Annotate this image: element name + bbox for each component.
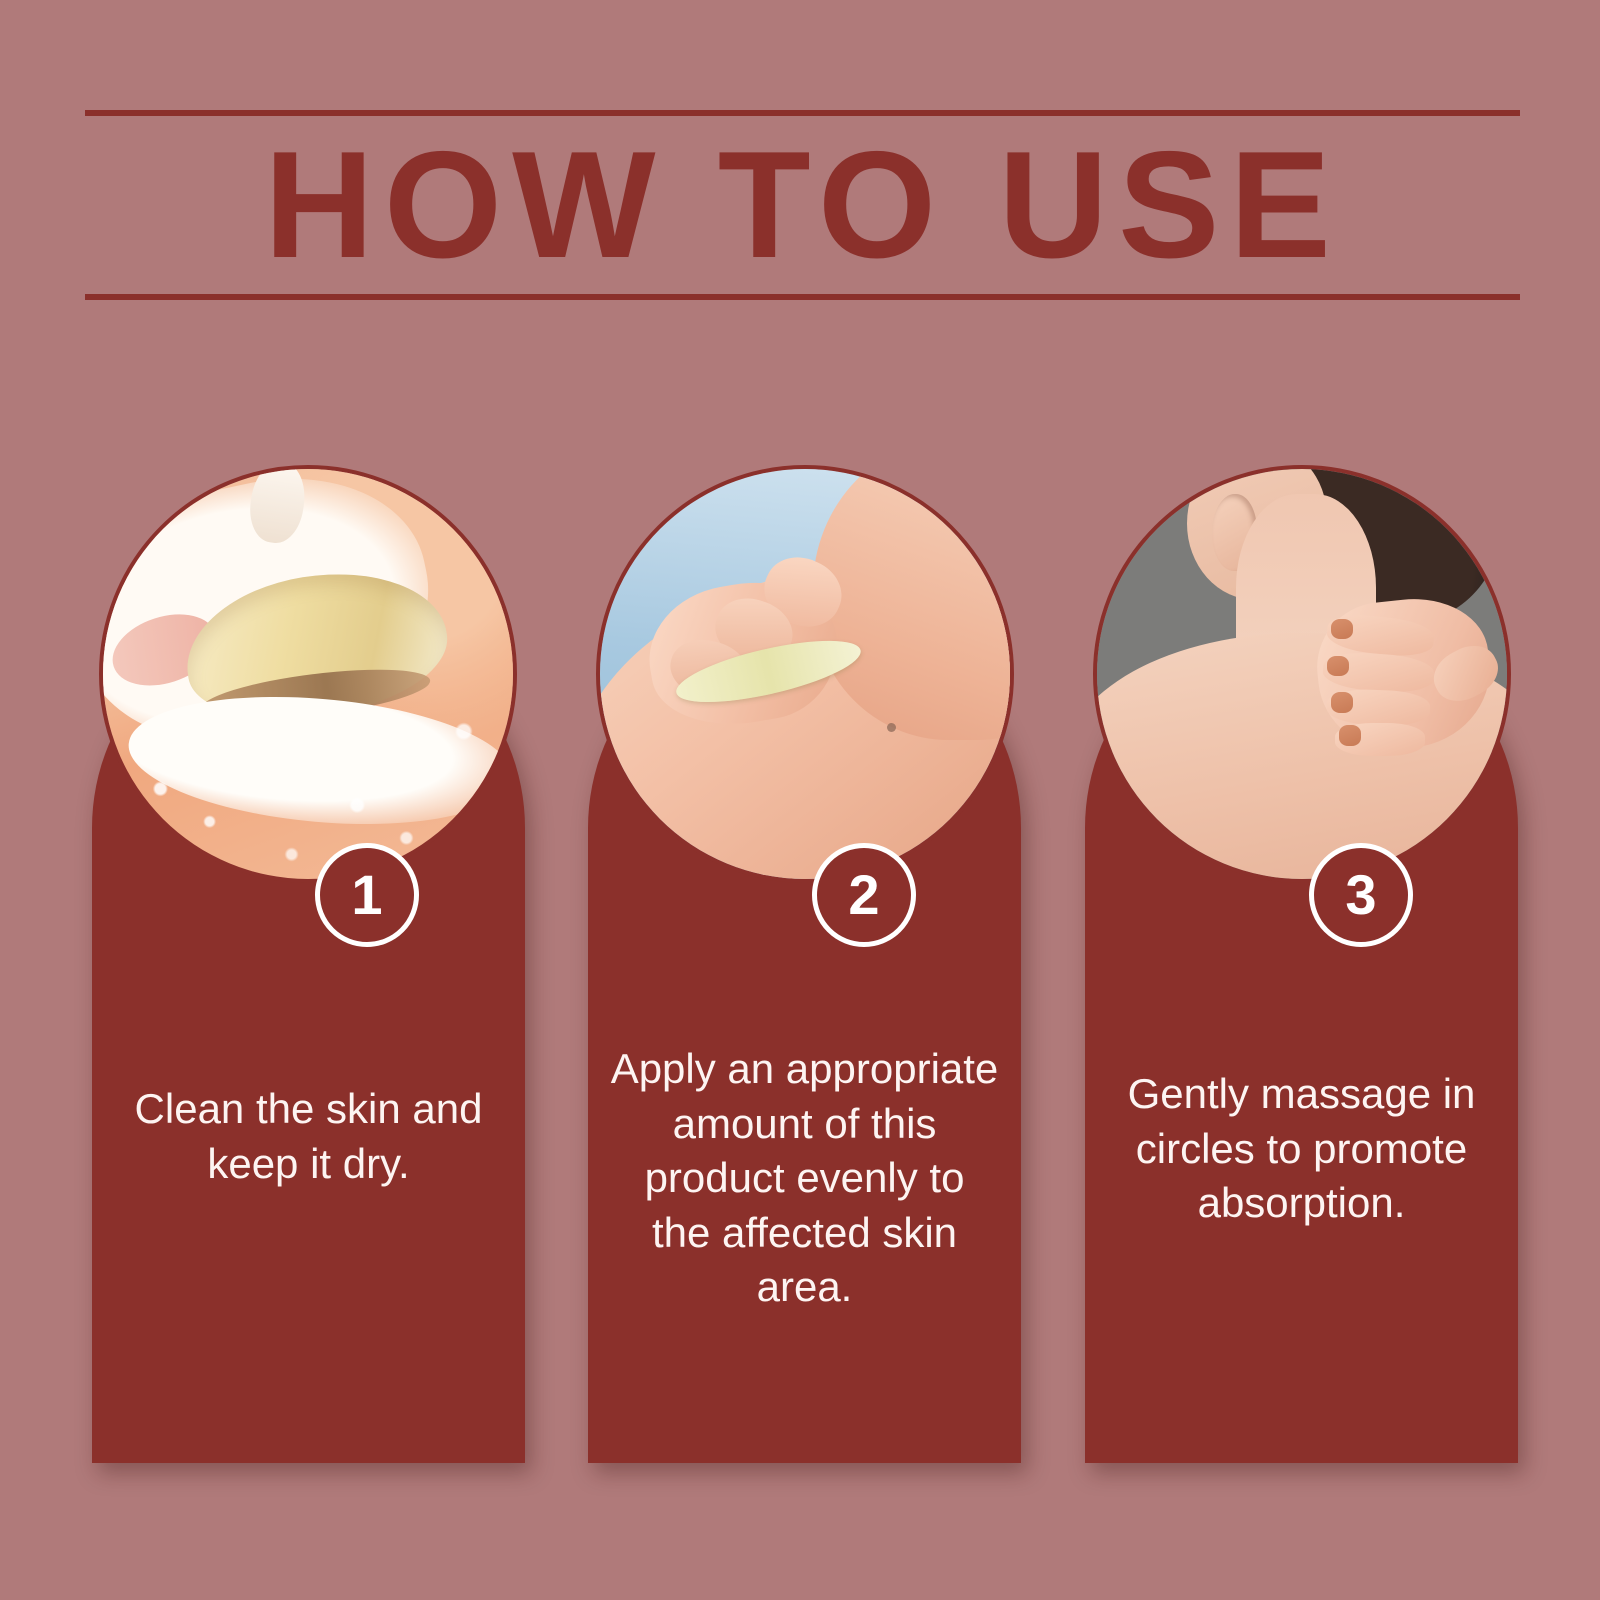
sponge-foam-on-skin-photo <box>103 469 513 879</box>
nail-shape-1 <box>1331 619 1354 640</box>
nail-shape-2 <box>1327 656 1350 677</box>
step-2-text: Apply an appropriate amount of this prod… <box>588 1042 1021 1315</box>
hand-massaging-neck-and-back-photo <box>1097 469 1507 879</box>
step-1-text: Clean the skin and keep it dry. <box>92 1082 525 1191</box>
step-2-badge: 2 <box>812 843 916 947</box>
title-bottom-rule <box>85 294 1520 300</box>
hand-applying-cream-to-arm-photo <box>600 469 1010 879</box>
step-3-image <box>1093 465 1511 883</box>
step-3-badge: 3 <box>1309 843 1413 947</box>
step-2-image <box>596 465 1014 883</box>
bubbles-overlay <box>103 469 513 879</box>
title-block: HOW TO USE <box>85 110 1520 300</box>
nail-shape-3 <box>1331 692 1354 713</box>
step-1-badge: 1 <box>315 843 419 947</box>
page-title: HOW TO USE <box>85 110 1520 300</box>
step-3-text: Gently massage in circles to promote abs… <box>1085 1067 1518 1231</box>
step-1-image <box>99 465 517 883</box>
steps-row: Clean the skin and keep it dry. 1 Apply … <box>92 465 1518 1475</box>
nail-shape-4 <box>1339 725 1362 746</box>
